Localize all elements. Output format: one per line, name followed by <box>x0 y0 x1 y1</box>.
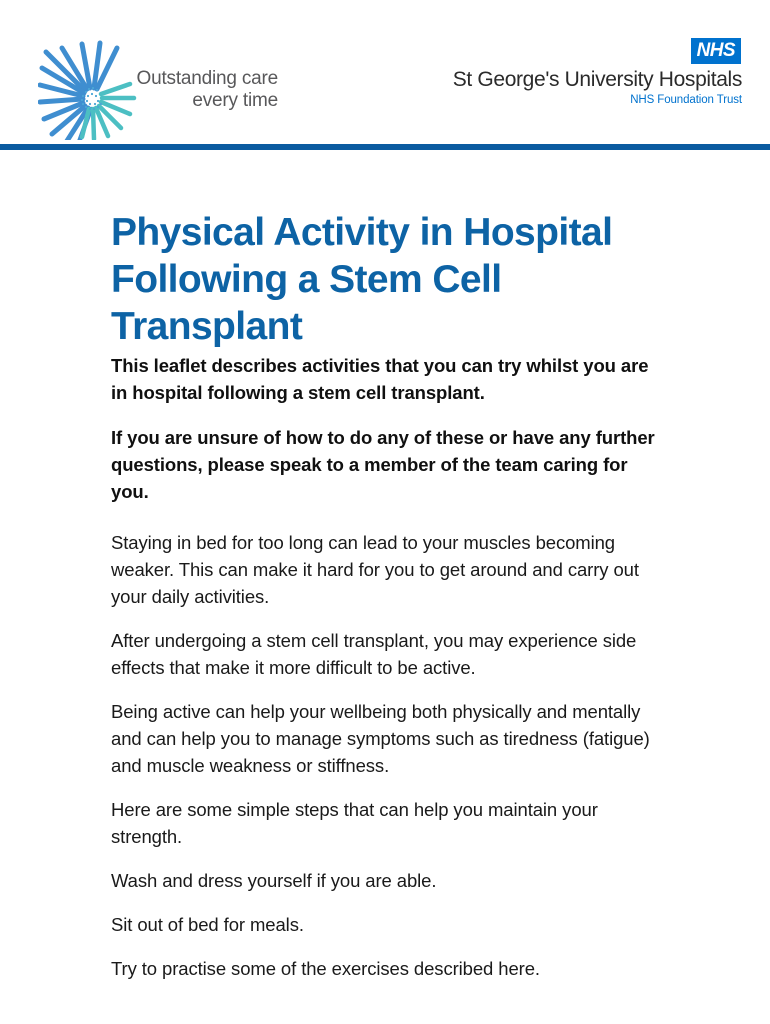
nhs-trust-block: NHS St George's University Hospitals NHS… <box>453 38 742 107</box>
lead-section: This leaflet describes activities that y… <box>111 352 663 505</box>
logo-tagline-line1: Outstanding care <box>106 68 278 90</box>
body-paragraph: Try to practise some of the exercises de… <box>111 955 663 982</box>
document-body: Physical Activity in Hospital Following … <box>111 209 663 999</box>
body-paragraph: After undergoing a stem cell transplant,… <box>111 627 663 681</box>
logo-tagline: Outstanding care every time <box>106 68 278 112</box>
nhs-logo: NHS <box>691 38 741 64</box>
body-paragraph: Here are some simple steps that can help… <box>111 796 663 850</box>
lead-paragraph: If you are unsure of how to do any of th… <box>111 424 663 505</box>
body-paragraph: Being active can help your wellbeing bot… <box>111 698 663 779</box>
body-paragraph: Sit out of bed for meals. <box>111 911 663 938</box>
logo-tagline-line2: every time <box>106 90 278 112</box>
trust-name: St George's University Hospitals <box>453 67 742 92</box>
lead-paragraph: This leaflet describes activities that y… <box>111 352 663 406</box>
header-divider <box>0 144 770 150</box>
body-section: Staying in bed for too long can lead to … <box>111 529 663 982</box>
page-title: Physical Activity in Hospital Following … <box>111 209 663 350</box>
body-paragraph: Wash and dress yourself if you are able. <box>111 867 663 894</box>
nhs-badge-row: NHS <box>453 38 742 64</box>
page-header: Outstanding care every time NHS St Georg… <box>0 0 770 145</box>
trust-subtitle: NHS Foundation Trust <box>453 93 742 107</box>
body-paragraph: Staying in bed for too long can lead to … <box>111 529 663 610</box>
